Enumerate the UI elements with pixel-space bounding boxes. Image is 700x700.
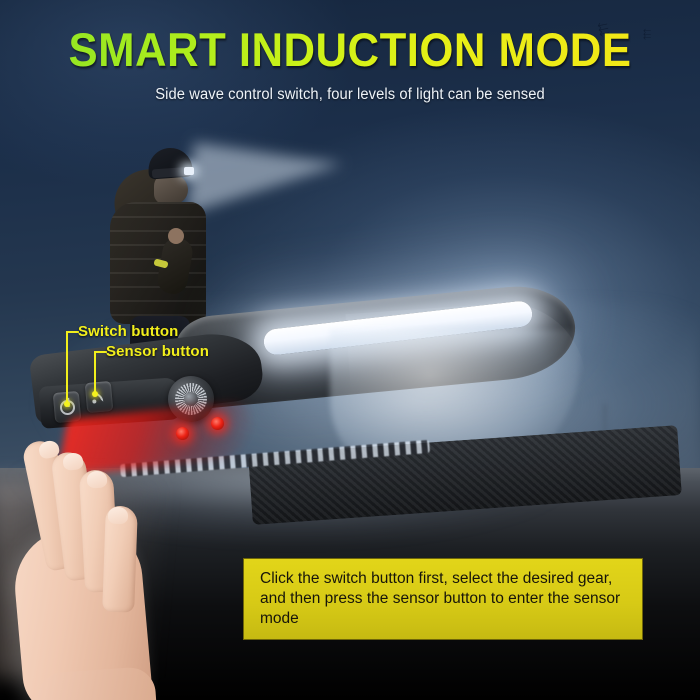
- runner-headlamp-light: [184, 167, 194, 175]
- headlamp-beam: [187, 142, 344, 229]
- instruction-line: Click the switch button first, select th…: [260, 569, 628, 589]
- red-indicator-led: [211, 417, 224, 430]
- page-title: SMART INDUCTION MODE: [25, 24, 676, 76]
- instruction-line: mode: [260, 609, 628, 629]
- sensor-button-label: Sensor button: [106, 343, 209, 360]
- fingernail: [108, 507, 129, 525]
- runner-fist: [168, 228, 184, 244]
- product-poster: ⬱ ⬱ ⬱: [0, 0, 700, 700]
- instruction-line: and then press the sensor button to ente…: [260, 589, 628, 609]
- switch-button-label: Switch button: [78, 323, 178, 340]
- fingernail: [87, 470, 108, 488]
- instruction-callout-box: Click the switch button first, select th…: [243, 558, 643, 640]
- sensor-callout-dot: [92, 391, 98, 397]
- sensor-callout-leader-vertical: [94, 351, 96, 394]
- switch-callout-dot: [64, 401, 70, 407]
- waving-hand: [0, 418, 190, 700]
- page-subtitle: Side wave control switch, four levels of…: [18, 86, 683, 104]
- switch-callout-leader-vertical: [66, 331, 68, 404]
